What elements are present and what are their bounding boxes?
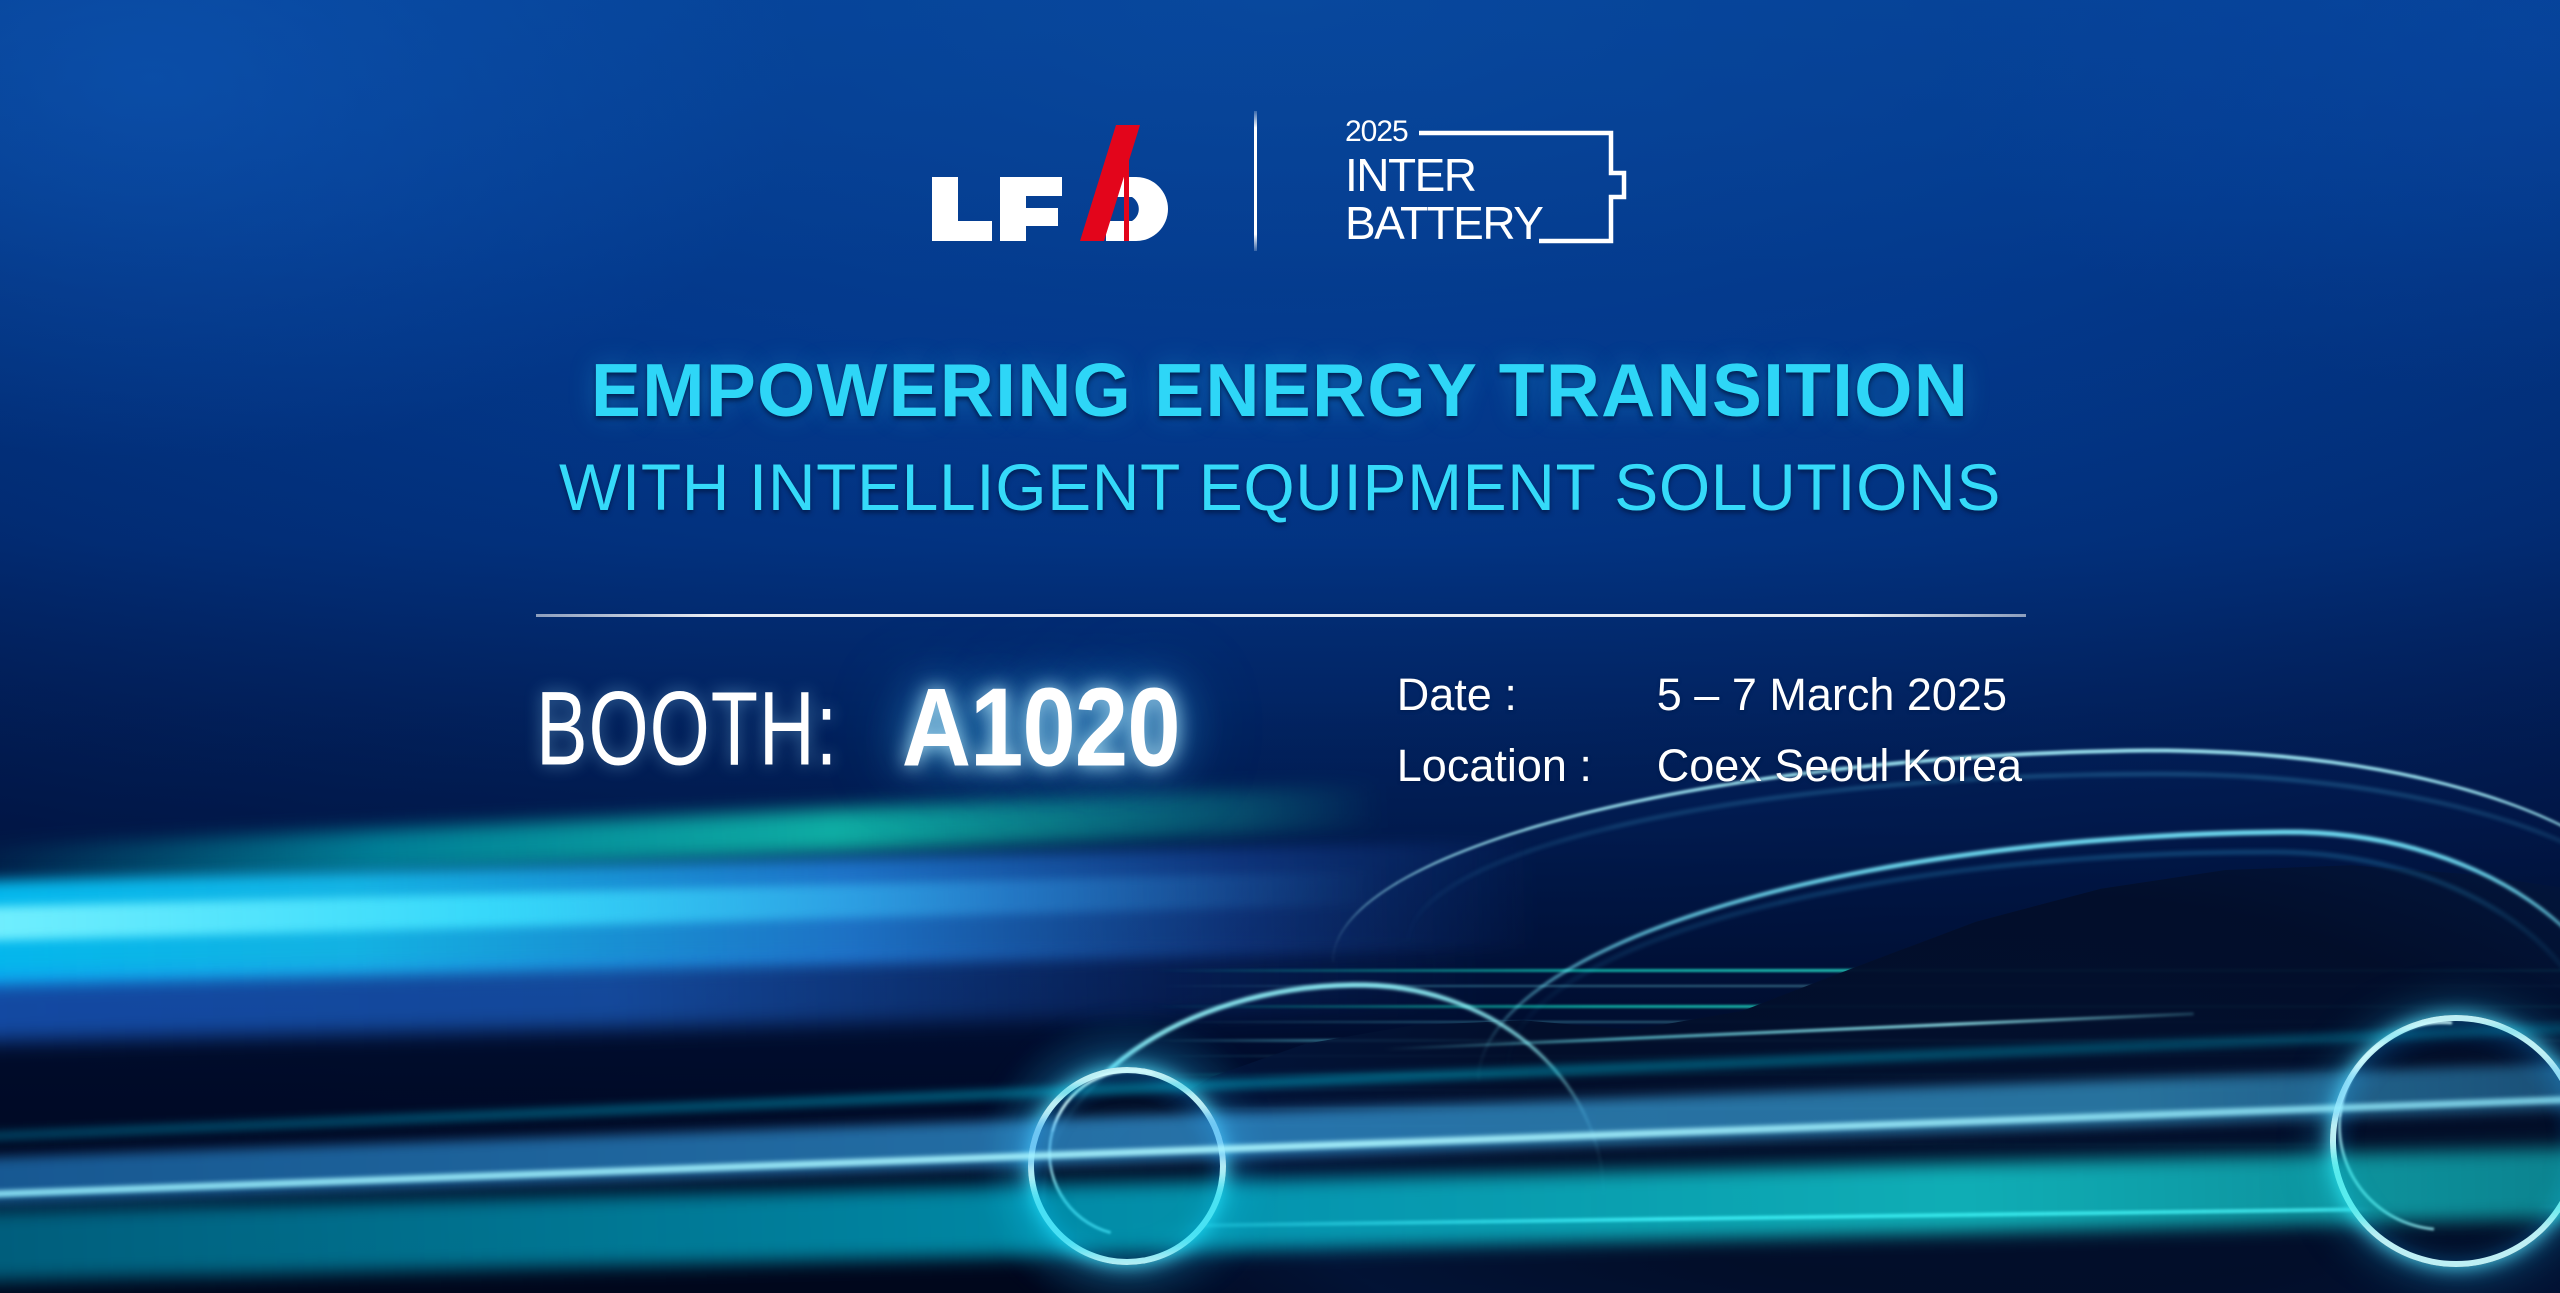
booth-number: A1020 xyxy=(902,664,1180,792)
headline-secondary: WITH INTELLIGENT EQUIPMENT SOLUTIONS xyxy=(0,449,2560,525)
svg-text:BATTERY: BATTERY xyxy=(1345,197,1543,249)
location-label: Location : xyxy=(1397,743,1657,788)
booth-block: BOOTH: A1020 xyxy=(536,672,1180,792)
booth-label: BOOTH: xyxy=(536,669,838,790)
meta-row-location: Location : Coex Seoul Korea xyxy=(1397,743,2022,788)
banner-canvas: 2025 INTER BATTERY EMPOWERING ENERGY TRA… xyxy=(0,0,2560,1293)
date-value: 5 – 7 March 2025 xyxy=(1657,672,2007,717)
interbattery-logo: 2025 INTER BATTERY xyxy=(1343,111,1633,251)
banner-content: 2025 INTER BATTERY EMPOWERING ENERGY TRA… xyxy=(0,0,2560,1293)
info-block: BOOTH: A1020 Date : 5 – 7 March 2025 Loc… xyxy=(536,672,2026,814)
meta-row-date: Date : 5 – 7 March 2025 xyxy=(1397,672,2022,717)
logo-row: 2025 INTER BATTERY xyxy=(0,96,2560,266)
location-value: Coex Seoul Korea xyxy=(1657,743,2022,788)
logo-separator xyxy=(1254,111,1257,251)
svg-text:2025: 2025 xyxy=(1345,115,1408,148)
event-meta: Date : 5 – 7 March 2025 Location : Coex … xyxy=(1397,672,2022,814)
lead-logo xyxy=(928,121,1168,241)
headline-primary: EMPOWERING ENERGY TRANSITION xyxy=(0,352,2560,429)
headline-block: EMPOWERING ENERGY TRANSITION WITH INTELL… xyxy=(0,352,2560,525)
svg-text:INTER: INTER xyxy=(1345,149,1476,201)
horizontal-divider xyxy=(536,614,2026,617)
date-label: Date : xyxy=(1397,672,1657,717)
